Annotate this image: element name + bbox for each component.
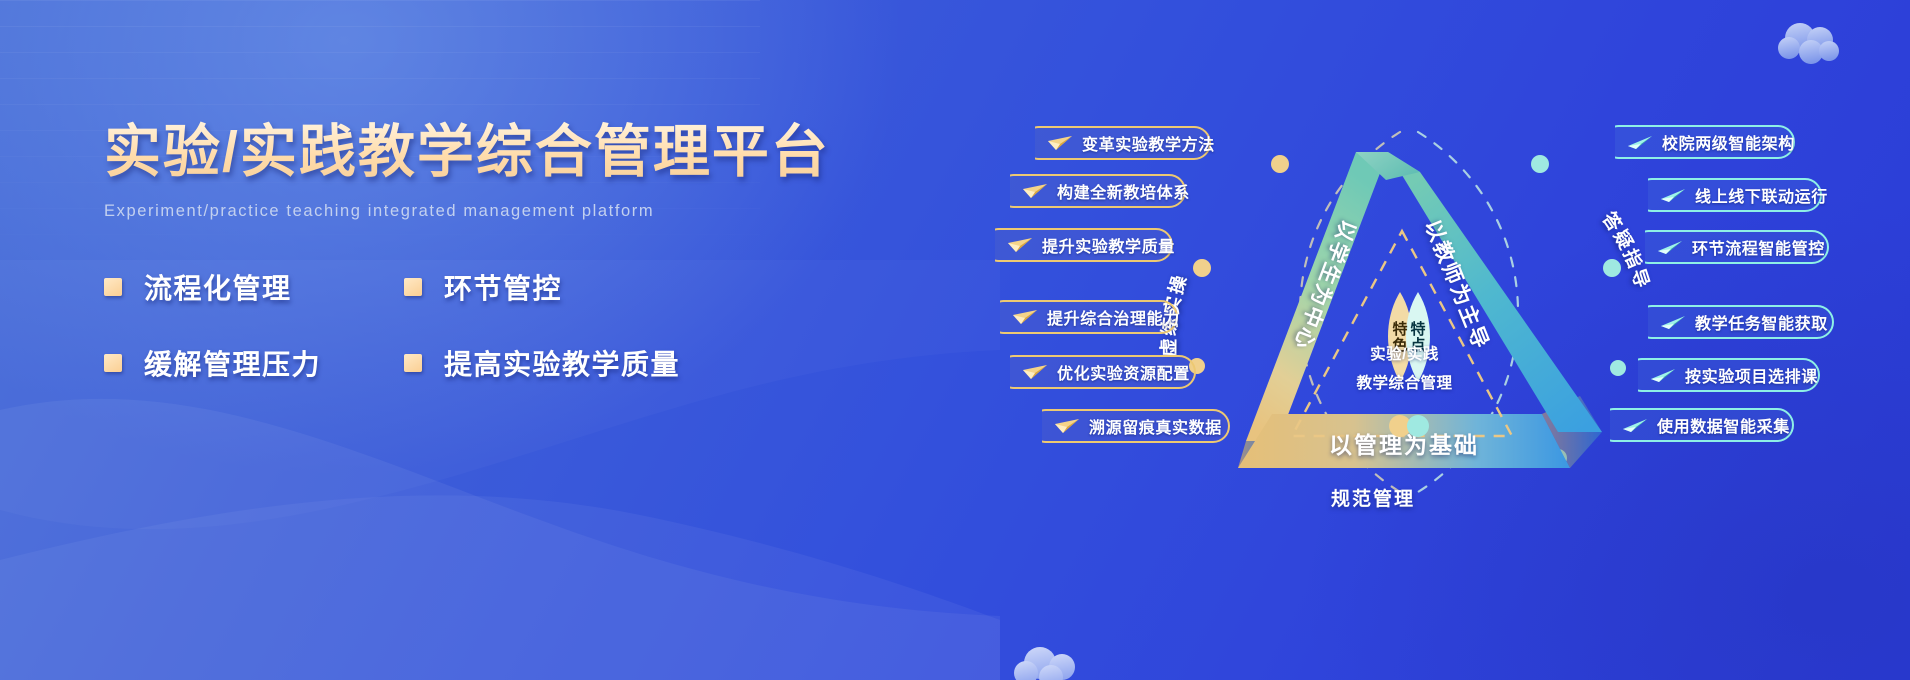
pill-label: 使用数据智能采集	[1657, 413, 1790, 437]
feature-list: 流程化管理 环节管控 缓解管理压力 提高实验教学质量	[104, 267, 864, 383]
pill-label: 教学任务智能获取	[1695, 310, 1828, 334]
diagram-caption: 规范管理	[1331, 484, 1415, 511]
paper-plane-icon	[1054, 417, 1080, 435]
pill-label: 构建全新教培体系	[1057, 179, 1190, 203]
hero-copy: 实验/实践教学综合管理平台 Experiment/practice teachi…	[104, 118, 864, 383]
paper-plane-icon	[1012, 308, 1038, 326]
paper-plane-icon	[1022, 182, 1048, 200]
center-line-1: 实验/实践	[1322, 342, 1487, 364]
square-bullet-icon	[404, 278, 422, 296]
feature-item: 流程化管理	[104, 267, 404, 307]
cloud-icon-bottom	[1010, 645, 1088, 680]
feature-label: 流程化管理	[144, 267, 292, 307]
paper-plane-icon	[1622, 416, 1648, 434]
page-title: 实验/实践教学综合管理平台	[104, 118, 864, 186]
feature-item: 缓解管理压力	[104, 343, 404, 383]
paper-plane-icon	[1650, 366, 1676, 384]
feature-item: 环节管控	[404, 267, 562, 307]
paper-plane-icon	[1660, 313, 1686, 331]
pill-gold-4[interactable]: 提升综合治理能力	[1000, 300, 1180, 334]
pill-label: 变革实验教学方法	[1082, 131, 1215, 155]
paper-plane-icon	[1047, 134, 1073, 152]
cloud-icon-top	[1775, 18, 1845, 64]
paper-plane-icon	[1660, 186, 1686, 204]
paper-plane-icon	[1660, 313, 1686, 331]
feature-label: 缓解管理压力	[144, 343, 321, 383]
pill-label: 溯源留痕真实数据	[1089, 414, 1222, 438]
pill-gold-2[interactable]: 构建全新教培体系	[1010, 174, 1188, 208]
paper-plane-icon	[1022, 363, 1048, 381]
center-line-2: 教学综合管理	[1322, 371, 1487, 393]
hero-banner: 实验/实践教学综合管理平台 Experiment/practice teachi…	[0, 0, 1910, 680]
feature-item: 提高实验教学质量	[404, 343, 680, 383]
pill-cyan-2[interactable]: 线上线下联动运行	[1648, 178, 1824, 212]
paper-plane-icon	[1022, 182, 1048, 200]
paper-plane-icon	[1650, 366, 1676, 384]
pill-label: 环节流程智能管控	[1692, 235, 1825, 259]
pill-label: 提升综合治理能力	[1047, 305, 1180, 329]
paper-plane-icon	[1660, 186, 1686, 204]
paper-plane-icon	[1012, 308, 1038, 326]
paper-plane-icon	[1007, 236, 1033, 254]
paper-plane-icon	[1657, 238, 1683, 256]
paper-plane-icon	[1627, 133, 1653, 151]
pill-gold-5[interactable]: 优化实验资源配置	[1010, 355, 1198, 389]
paper-plane-icon	[1007, 236, 1033, 254]
pill-gold-3[interactable]: 提升实验教学质量	[995, 228, 1175, 262]
paper-plane-icon	[1054, 417, 1080, 435]
pill-label: 线上线下联动运行	[1695, 183, 1828, 207]
feature-row: 缓解管理压力 提高实验教学质量	[104, 343, 864, 383]
pill-cyan-6[interactable]: 使用数据智能采集	[1610, 408, 1796, 442]
paper-plane-icon	[1657, 238, 1683, 256]
square-bullet-icon	[404, 354, 422, 372]
pill-gold-1[interactable]: 变革实验教学方法	[1035, 126, 1213, 160]
pill-label: 优化实验资源配置	[1057, 360, 1190, 384]
square-bullet-icon	[104, 278, 122, 296]
pill-label: 校院两级智能架构	[1662, 130, 1795, 154]
pill-cyan-4[interactable]: 教学任务智能获取	[1648, 305, 1836, 339]
feature-label: 环节管控	[444, 267, 562, 307]
diagram-center-text: 实验/实践 教学综合管理	[1322, 342, 1487, 393]
pill-cyan-5[interactable]: 按实验项目选排课	[1638, 358, 1822, 392]
pill-cyan-1[interactable]: 校院两级智能架构	[1615, 125, 1797, 159]
feature-row: 流程化管理 环节管控	[104, 267, 864, 307]
pill-cyan-3[interactable]: 环节流程智能管控	[1645, 230, 1831, 264]
paper-plane-icon	[1622, 416, 1648, 434]
paper-plane-icon	[1627, 133, 1653, 151]
paper-plane-icon	[1022, 363, 1048, 381]
pill-gold-6[interactable]: 溯源留痕真实数据	[1042, 409, 1232, 443]
paper-plane-icon	[1047, 134, 1073, 152]
page-subtitle: Experiment/practice teaching integrated …	[104, 202, 864, 221]
pill-label: 按实验项目选排课	[1685, 363, 1818, 387]
badge-right-line1: 特	[1410, 322, 1425, 338]
penrose-triangle-diagram: 虚练实操 答疑指导 以学生为中心 以教师为主导 以管理为基础	[1150, 96, 1670, 516]
square-bullet-icon	[104, 354, 122, 372]
pill-label: 提升实验教学质量	[1042, 233, 1175, 257]
feature-label: 提高实验教学质量	[444, 343, 680, 383]
